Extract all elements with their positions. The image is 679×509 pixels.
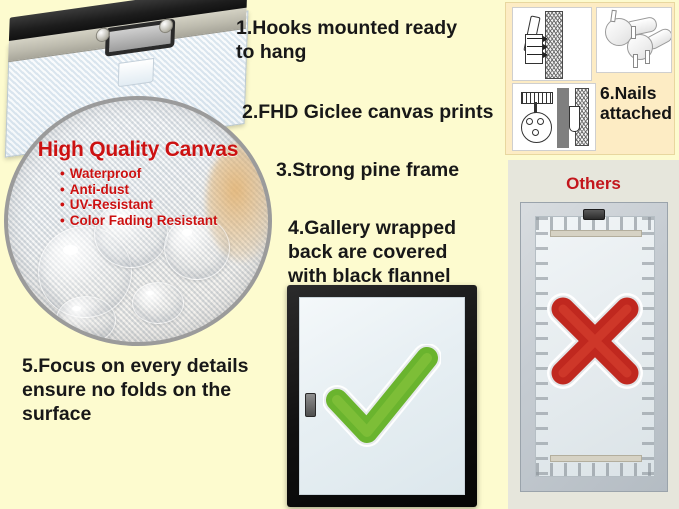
bad-frame-inner [535,216,655,477]
feature-text-1: 1.Hooks mounted ready to hang [236,16,457,64]
nail-into-wall-diagram [512,7,592,81]
feature-text-2: 2.FHD Giclee canvas prints [242,100,493,124]
hook-disc-icon [521,112,552,143]
frame-rail [550,230,642,237]
nail-pin-icon [633,54,638,68]
others-comparison-panel: Others [508,160,679,509]
list-item: Color Fading Resistant [60,213,218,229]
list-item: Waterproof [60,166,218,182]
others-title: Others [508,174,679,194]
good-frame-inner [299,297,465,495]
hook-hardware-diagram [596,7,672,73]
water-droplet-icon [132,282,184,324]
mounting-instruction-panel: Wall 6.Nails attached [505,2,675,155]
bracket-icon [521,92,553,104]
nail-pin-icon [631,26,636,39]
staple-row [536,463,654,476]
feature-text-5: 5.Focus on every details ensure no folds… [22,354,249,426]
nails-attached-label: 6.Nails attached [600,83,672,123]
nail-pin-icon [645,50,650,64]
arrow-icon [527,46,547,47]
pin-hole-icon [526,118,533,125]
frame-clip-icon [583,209,605,220]
hanger-icon [569,106,580,132]
product-infographic: High Quality Canvas Waterproof Anti-dust… [0,0,679,509]
arrow-icon [527,54,547,55]
x-mark-icon [545,291,645,391]
frame-board-icon [557,88,569,148]
feature-text-4: 4.Gallery wrapped back are covered with … [288,216,456,288]
feature-text-3: 3.Strong pine frame [276,158,459,182]
bad-example-frame [520,202,668,492]
magnifier-feature-list: Waterproof Anti-dust UV-Resistant Color … [60,166,218,228]
check-mark-icon [323,344,441,448]
good-example-frame [287,285,477,507]
arrow-icon [527,38,547,39]
pin-hole-icon [532,129,539,136]
list-item: UV-Resistant [60,197,218,213]
water-droplet-icon [56,296,116,344]
pin-hole-icon [537,118,544,125]
frame-hook-icon [305,393,316,417]
canvas-hook-tab [118,58,155,87]
frame-rail [550,455,642,462]
magnifier-circle: High Quality Canvas Waterproof Anti-dust… [4,96,272,346]
magnifier-title: High Quality Canvas [8,138,268,162]
list-item: Anti-dust [60,182,218,198]
hook-on-wall-diagram [512,83,596,151]
